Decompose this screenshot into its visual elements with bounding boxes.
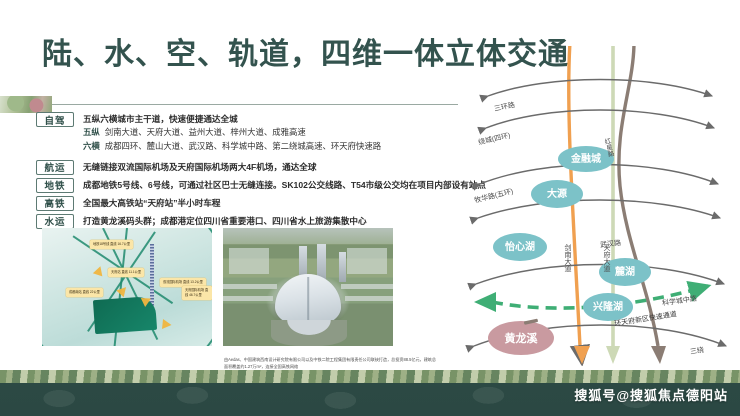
tag-drive: 自驾 — [36, 112, 74, 127]
map-callout-1: 天府站 直线 11.1公里 — [108, 268, 144, 277]
district-luhu — [599, 258, 651, 286]
map-callout-3: 天府国际机场 直线 46.7公里 — [182, 286, 212, 300]
map-callout-0: 地铁18号线 直线 16.7公里 — [90, 240, 133, 249]
photo-caption: 由Aedas、中国建筑西南设计研究院有限公司以及中铁二院工程集团有限责任公司联袂… — [224, 356, 436, 370]
photo-tianfu-station-render — [223, 228, 393, 346]
avenue-hongxing-arrowhead — [651, 346, 666, 364]
info-row-hsr: 高铁 全国最大高铁站“天府站”半小时车程 — [36, 196, 466, 211]
express-corridor-west-arrow — [474, 292, 496, 312]
info-sub-drive-1: 六横成都四环、麓山大道、武汉路、科学城中路、第二绕城高速、环天府快速路 — [83, 140, 381, 153]
info-main-water: 打造黄龙溪码头群；成都港定位四川省重要港口、四川省水上旅游集散中心 — [83, 215, 367, 227]
tag-air: 航运 — [36, 160, 74, 175]
info-row-drive: 自驾 五纵六横城市主干道，快速便捷通达全城 五纵剑南大道、天府大道、益州大道、梓… — [36, 112, 466, 153]
info-body-metro: 成都地铁5号线、6号线，可通过社区巴士无缝连接。SK102公交线路、T54市级公… — [83, 178, 486, 191]
ring-road-4huan — [486, 110, 714, 128]
info-main-air: 无缝链接双流国际机场及天府国际机场两大4F机场，通达全球 — [83, 161, 316, 173]
sub-key-wuzong: 五纵 — [83, 127, 100, 137]
photo-region-traffic-map: 地铁18号线 直线 16.7公里 天府站 直线 11.1公里 双流国际机场 直线… — [42, 228, 212, 346]
transport-info-list: 自驾 五纵六横城市主干道，快速便捷通达全城 五纵剑南大道、天府大道、益州大道、梓… — [36, 112, 466, 232]
aerial-road-right — [341, 284, 393, 289]
sub-val-wuzong: 剑南大道、天府大道、益州大道、梓州大道、成雅高速 — [105, 127, 306, 137]
info-row-water: 水运 打造黄龙溪码头群；成都港定位四川省重要港口、四川省水上旅游集散中心 — [36, 214, 466, 229]
info-body-air: 无缝链接双流国际机场及天府国际机场两大4F机场，通达全球 — [83, 160, 316, 173]
avenue-jiannan-arrowhead — [574, 346, 590, 364]
info-row-air: 航运 无缝链接双流国际机场及天府国际机场两大4F机场，通达全球 — [36, 160, 466, 175]
ring-road-3huan — [488, 80, 712, 97]
slide-root: 陆、水、空、轨道，四维一体立体交通 自驾 五纵六横城市主干道，快速便捷通达全城 … — [0, 0, 740, 416]
district-jinrongcheng — [558, 146, 614, 172]
urban-block-2 — [347, 248, 387, 274]
district-huanglongxi — [488, 321, 554, 355]
aerial-road-left-2 — [223, 296, 273, 301]
sub-key-liuheng: 六横 — [83, 141, 100, 151]
sky-band — [223, 228, 393, 244]
district-yixinhu — [493, 233, 547, 261]
district-xinglonghu — [583, 293, 633, 321]
direction-arrow-4 — [162, 319, 172, 330]
decorative-photo-strip — [0, 96, 52, 113]
regional-schematic-map: 金融城 大源 怡心湖 麓湖 兴隆湖 黄龙溪 三环路 绕城(四环) 牧华路(五环)… — [462, 46, 740, 366]
tag-hsr: 高铁 — [36, 196, 74, 211]
aerial-road-left — [223, 284, 277, 289]
info-main-hsr: 全国最大高铁站“天府站”半小时车程 — [83, 197, 221, 209]
watermark: 搜狐号@搜狐焦点德阳站 — [574, 385, 728, 404]
map-svg — [462, 46, 740, 366]
avenue-tianfu-arrowhead — [606, 346, 620, 364]
title-divider — [52, 104, 458, 105]
district-dayuan — [531, 180, 583, 208]
station-plaza — [271, 320, 347, 346]
aerial-road-right-2 — [345, 296, 393, 301]
info-body-drive: 五纵六横城市主干道，快速便捷通达全城 五纵剑南大道、天府大道、益州大道、梓州大道… — [83, 112, 381, 153]
info-main-drive: 五纵六横城市主干道，快速便捷通达全城 — [83, 113, 381, 125]
info-sub-drive-0: 五纵剑南大道、天府大道、益州大道、梓州大道、成雅高速 — [83, 126, 381, 139]
station-roof — [275, 274, 341, 326]
tower-far-right — [339, 252, 346, 282]
photo-gallery: 地铁18号线 直线 16.7公里 天府站 直线 11.1公里 双流国际机场 直线… — [42, 228, 393, 346]
urban-block-1 — [229, 248, 269, 274]
tag-water: 水运 — [36, 214, 74, 229]
info-main-metro: 成都地铁5号线、6号线，可通过社区巴士无缝连接。SK102公交线路、T54市级公… — [83, 179, 486, 191]
info-row-metro: 地铁 成都地铁5号线、6号线，可通过社区巴士无缝连接。SK102公交线路、T54… — [36, 178, 466, 193]
info-body-hsr: 全国最大高铁站“天府站”半小时车程 — [83, 196, 221, 209]
ring-road-wuhan — [478, 200, 720, 218]
tag-metro: 地铁 — [36, 178, 74, 193]
sub-val-liuheng: 成都四环、麓山大道、武汉路、科学城中路、第二绕城高速、环天府快速路 — [105, 141, 381, 151]
info-body-water: 打造黄龙溪码头群；成都港定位四川省重要港口、四川省水上旅游集散中心 — [83, 214, 367, 227]
map-callout-4: 成都南站 直线 22公里 — [66, 288, 103, 297]
